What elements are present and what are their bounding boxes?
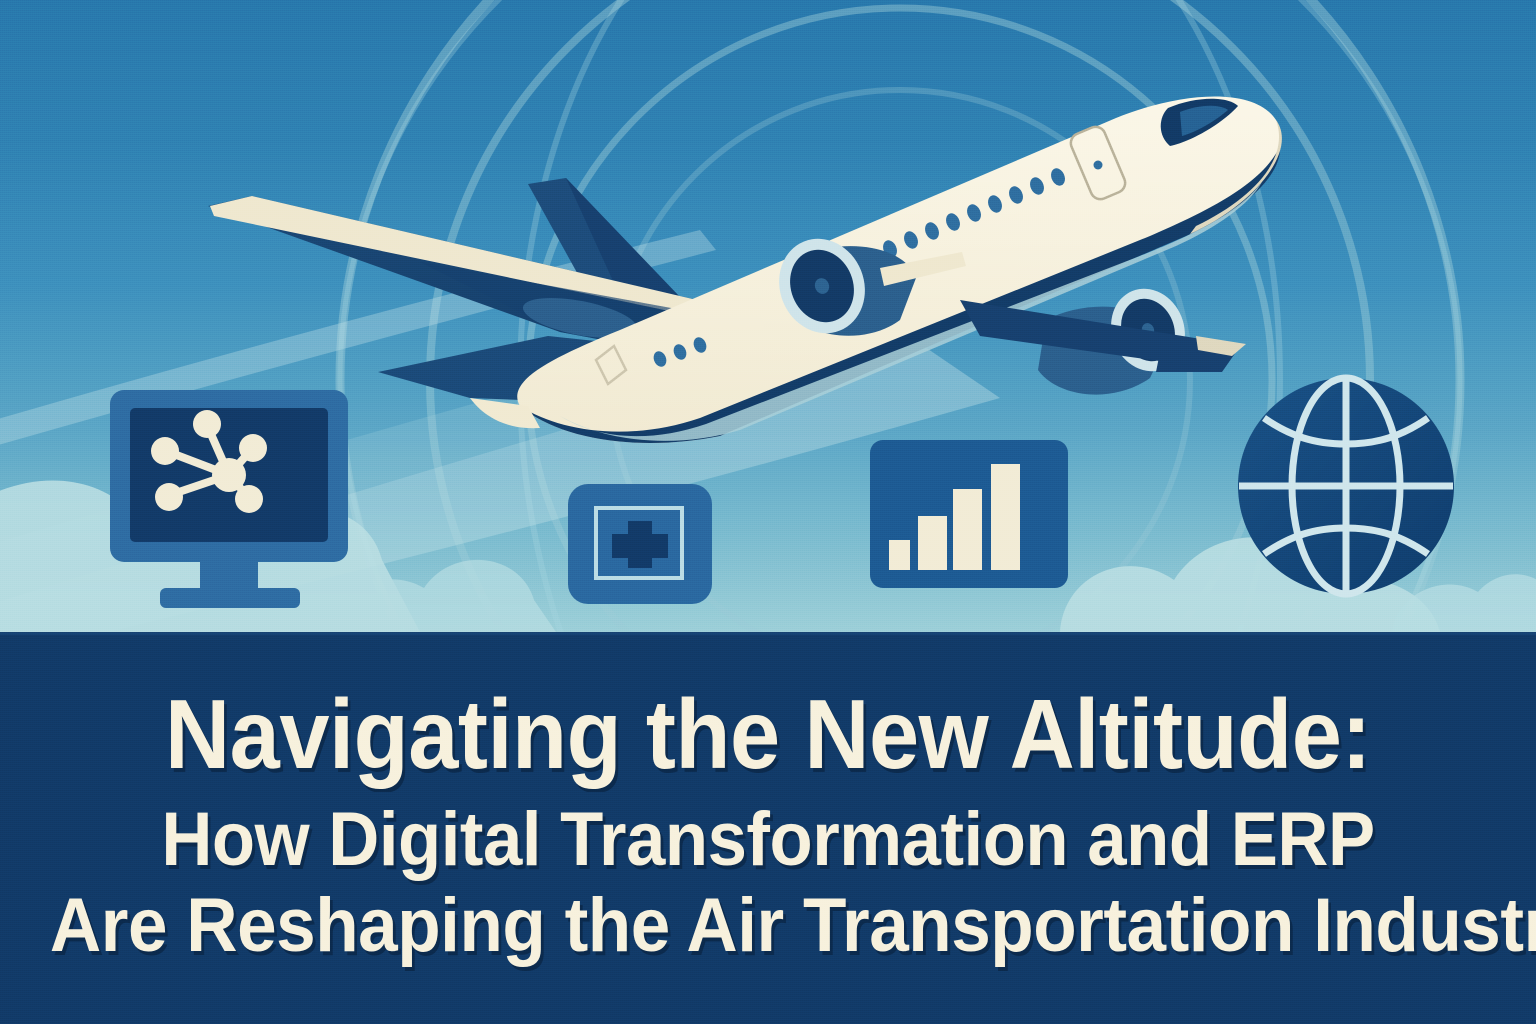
door-handle: [1094, 161, 1103, 170]
airplane: [208, 96, 1282, 443]
page-title-line-2: How Digital Transformation and ERP: [54, 798, 1482, 882]
bar-1: [889, 540, 910, 570]
sky-illustration: [0, 0, 1536, 632]
title-band: Navigating the New Altitude: How Digital…: [0, 632, 1536, 1024]
globe-icon[interactable]: [1238, 378, 1454, 594]
bar-chart-icon[interactable]: [870, 440, 1068, 588]
poster-canvas: Navigating the New Altitude: How Digital…: [0, 0, 1536, 1024]
ethernet-port-icon[interactable]: [568, 484, 712, 604]
bar-3: [953, 489, 982, 570]
bar-4: [991, 464, 1020, 570]
page-title-line-3: Are Reshaping the Air Transportation Ind…: [50, 884, 1486, 968]
bar-2: [918, 516, 947, 570]
page-title-line-1: Navigating the New Altitude:: [61, 682, 1474, 786]
